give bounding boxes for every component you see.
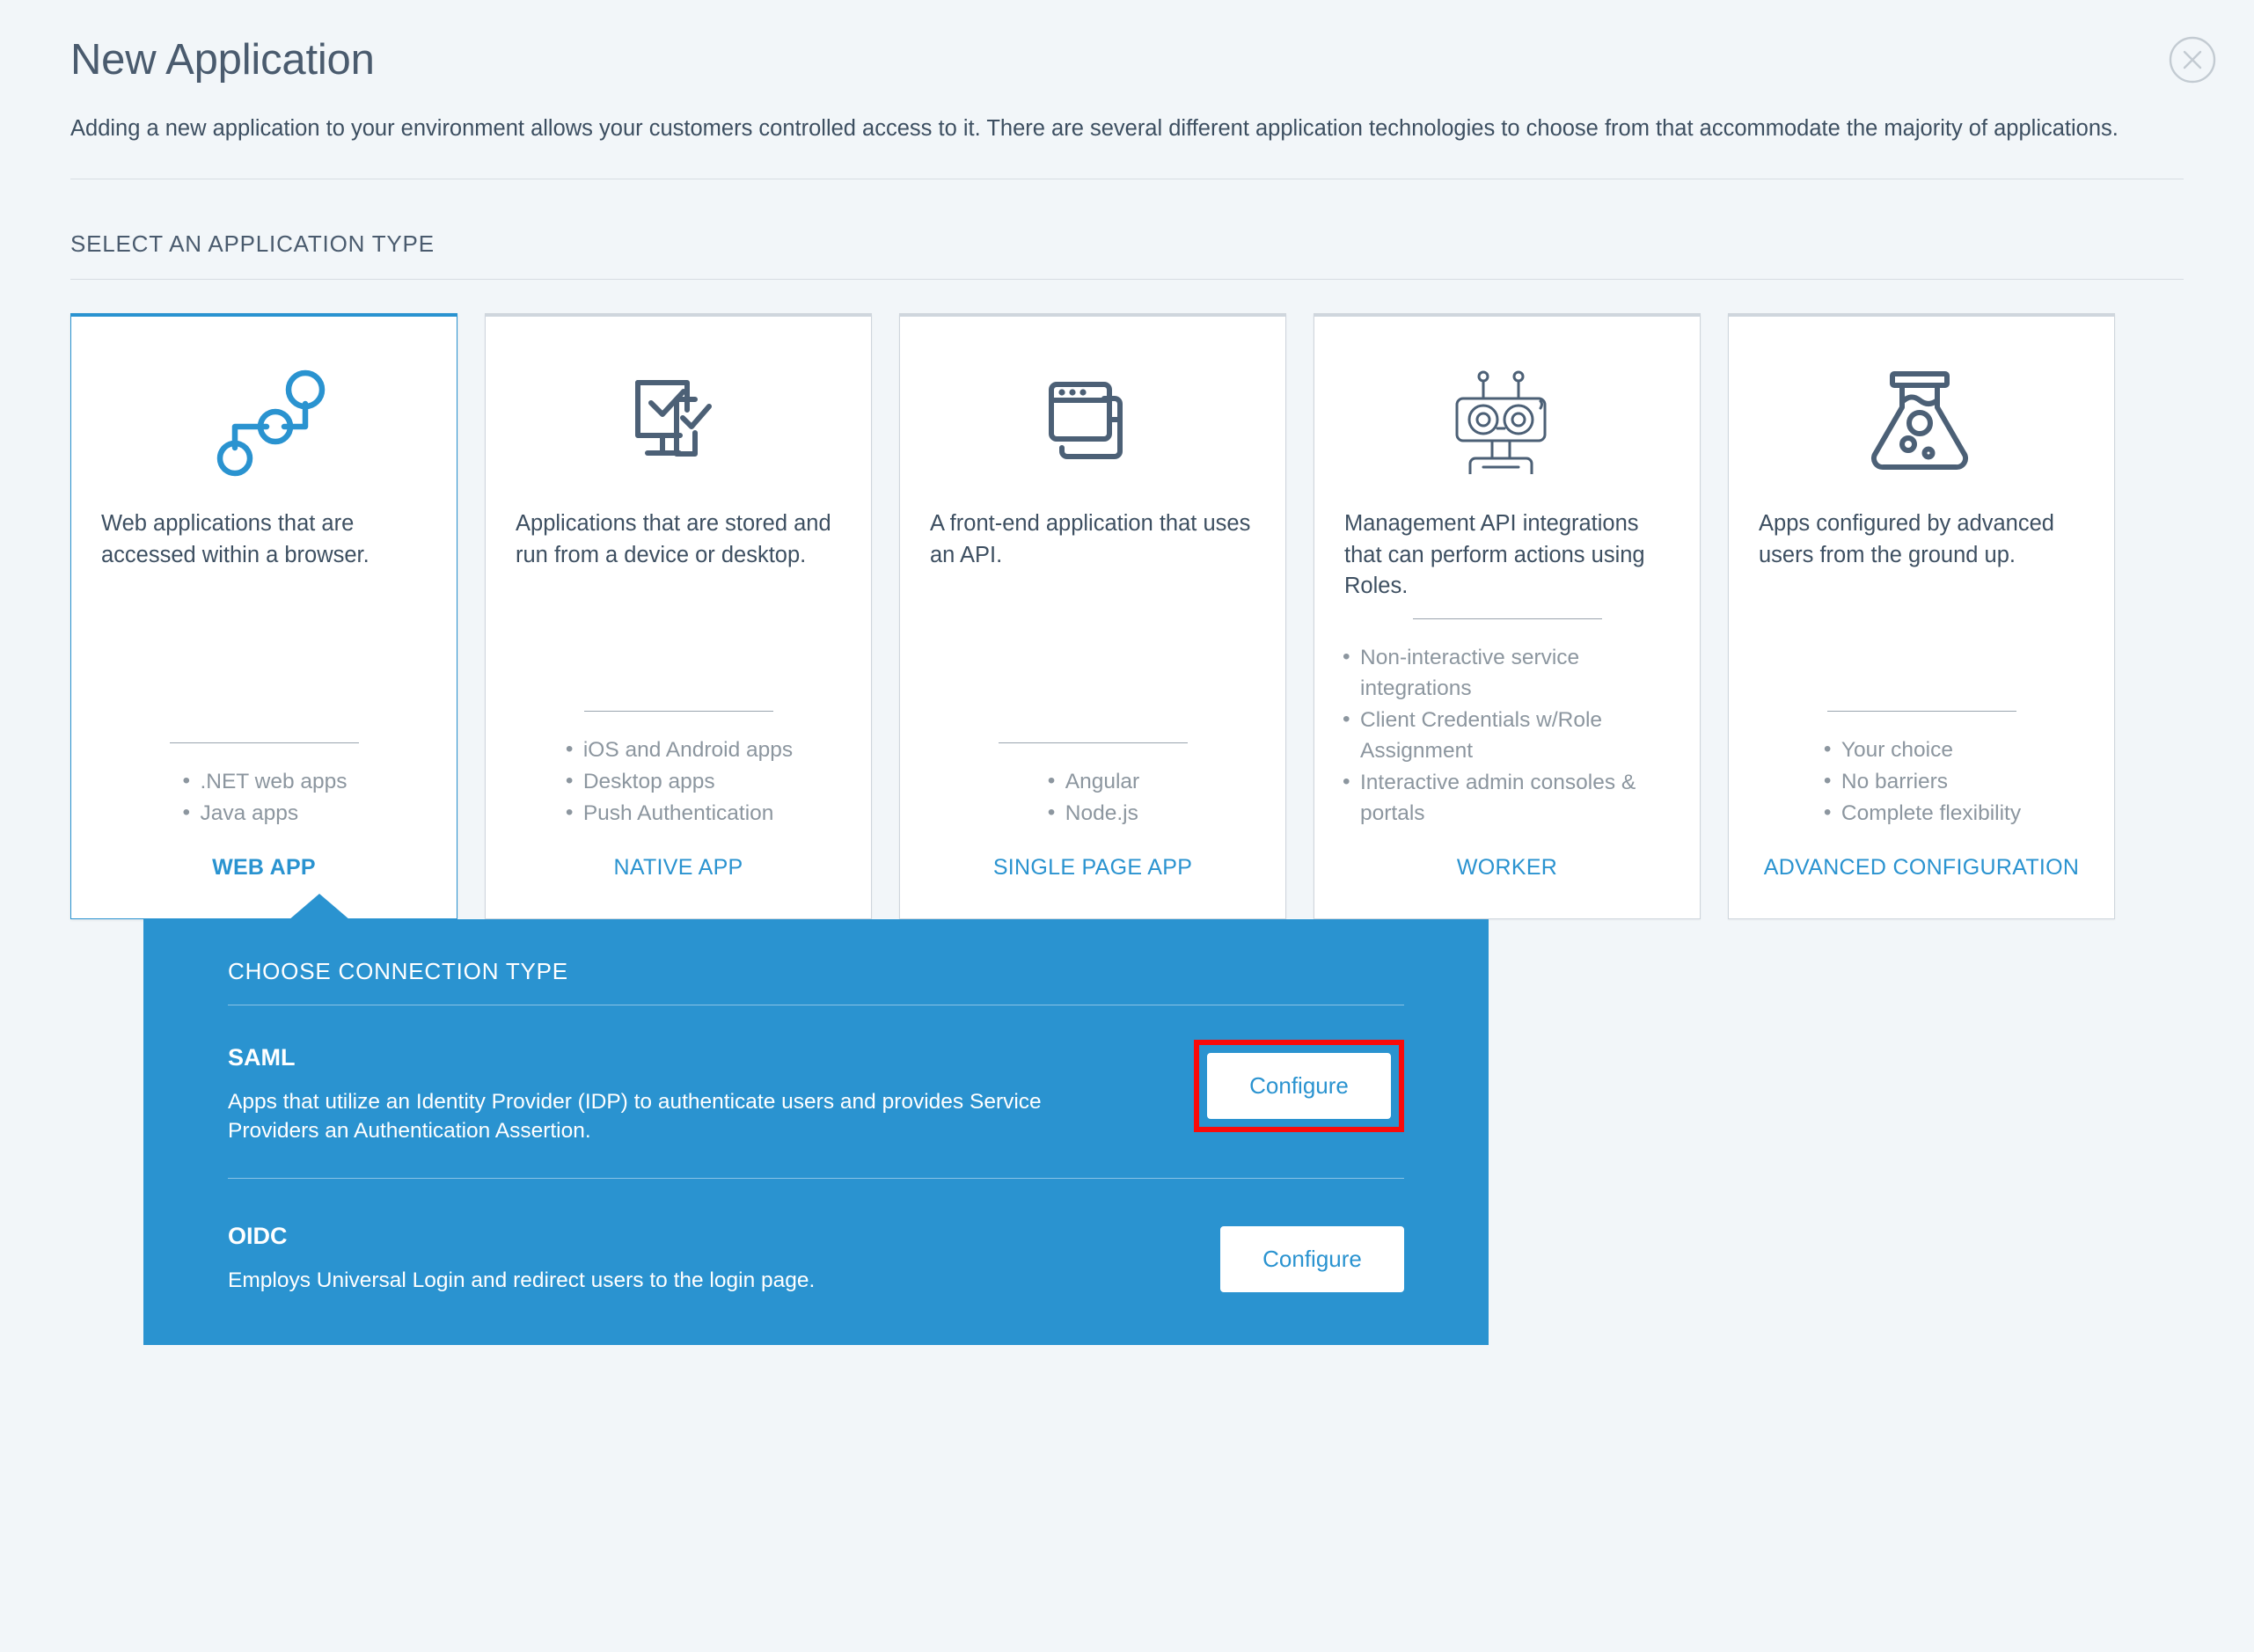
configure-saml-button[interactable]: Configure <box>1207 1053 1391 1119</box>
connection-row-text: SAML Apps that utilize an Identity Provi… <box>228 1044 1194 1147</box>
list-item: No barriers <box>1822 766 2021 797</box>
card-cta-worker[interactable]: WORKER <box>1457 854 1557 881</box>
connection-row-saml: SAML Apps that utilize an Identity Provi… <box>228 1005 1404 1156</box>
card-worker[interactable]: Management API integrations that can per… <box>1314 313 1701 919</box>
list-item: Node.js <box>1046 798 1139 829</box>
flask-icon <box>1855 357 1987 489</box>
new-application-dialog: New Application Adding a new application… <box>0 0 2254 1652</box>
card-bullet-list: iOS and Android apps Desktop apps Push A… <box>564 735 793 830</box>
list-item: .NET web apps <box>180 766 347 797</box>
card-web-app[interactable]: Web applications that are accessed withi… <box>70 313 457 919</box>
close-icon[interactable] <box>2168 35 2217 84</box>
browser-windows-icon <box>1027 357 1159 489</box>
card-single-page-app[interactable]: A front-end application that uses an API… <box>899 313 1286 919</box>
card-advanced-configuration[interactable]: Apps configured by advanced users from t… <box>1728 313 2115 919</box>
list-item: Push Authentication <box>564 798 793 829</box>
card-bullet-list: .NET web apps Java apps <box>180 766 347 830</box>
card-native-app[interactable]: Applications that are stored and run fro… <box>485 313 872 919</box>
card-description: Management API integrations that can per… <box>1341 508 1673 603</box>
card-description: Web applications that are accessed withi… <box>98 508 430 571</box>
section-label: SELECT AN APPLICATION TYPE <box>70 230 2184 258</box>
dialog-header: New Application Adding a new application… <box>0 0 2254 179</box>
monitor-and-mobile-check-icon <box>612 357 744 489</box>
card-cta-web-app[interactable]: WEB APP <box>212 854 316 881</box>
list-item: Complete flexibility <box>1822 798 2021 829</box>
list-item: Desktop apps <box>564 766 793 797</box>
robot-icon <box>1441 357 1573 489</box>
connection-description: Apps that utilize an Identity Provider (… <box>228 1087 1116 1147</box>
list-item: Java apps <box>180 798 347 829</box>
page-title: New Application <box>70 37 2184 84</box>
panel-pointer-arrow <box>289 894 350 920</box>
list-item: Interactive admin consoles & portals <box>1341 767 1673 829</box>
list-item: iOS and Android apps <box>564 735 793 765</box>
card-description: Apps configured by advanced users from t… <box>1755 508 2088 571</box>
card-divider <box>1413 618 1602 619</box>
application-type-section: SELECT AN APPLICATION TYPE Web applicati… <box>0 230 2254 919</box>
card-divider <box>1827 711 2016 712</box>
header-divider <box>70 179 2184 179</box>
card-bullet-list: Angular Node.js <box>1046 766 1139 830</box>
connection-description: Employs Universal Login and redirect use… <box>228 1266 1116 1296</box>
connected-nodes-icon <box>198 357 330 489</box>
highlight-box: Configure <box>1194 1040 1404 1132</box>
card-divider <box>584 711 773 712</box>
card-cta-native-app[interactable]: NATIVE APP <box>613 854 743 881</box>
connection-row-text: OIDC Employs Universal Login and redirec… <box>228 1223 1220 1296</box>
list-item: Your choice <box>1822 735 2021 765</box>
card-description: Applications that are stored and run fro… <box>512 508 845 571</box>
connection-name: OIDC <box>228 1223 1185 1250</box>
list-item: Client Credentials w/Role Assignment <box>1341 705 1673 766</box>
list-item: Non-interactive service integrations <box>1341 642 1673 704</box>
list-item: Angular <box>1046 766 1139 797</box>
card-cta-single-page-app[interactable]: SINGLE PAGE APP <box>993 854 1192 881</box>
application-type-card-list: Web applications that are accessed withi… <box>70 313 2184 919</box>
choose-connection-type-panel: CHOOSE CONNECTION TYPE SAML Apps that ut… <box>143 919 1489 1345</box>
connection-row-oidc: OIDC Employs Universal Login and redirec… <box>228 1179 1404 1296</box>
card-cta-advanced-configuration[interactable]: ADVANCED CONFIGURATION <box>1764 854 2079 881</box>
card-bullet-list: Your choice No barriers Complete flexibi… <box>1822 735 2021 830</box>
connection-name: SAML <box>228 1044 1159 1071</box>
card-divider <box>170 742 359 743</box>
section-divider <box>70 279 2184 280</box>
connection-panel-title: CHOOSE CONNECTION TYPE <box>228 958 1443 985</box>
configure-oidc-button[interactable]: Configure <box>1220 1226 1404 1292</box>
card-bullet-list: Non-interactive service integrations Cli… <box>1341 642 1673 830</box>
card-description: A front-end application that uses an API… <box>926 508 1259 571</box>
page-description: Adding a new application to your environ… <box>70 113 2184 145</box>
card-divider <box>999 742 1188 743</box>
